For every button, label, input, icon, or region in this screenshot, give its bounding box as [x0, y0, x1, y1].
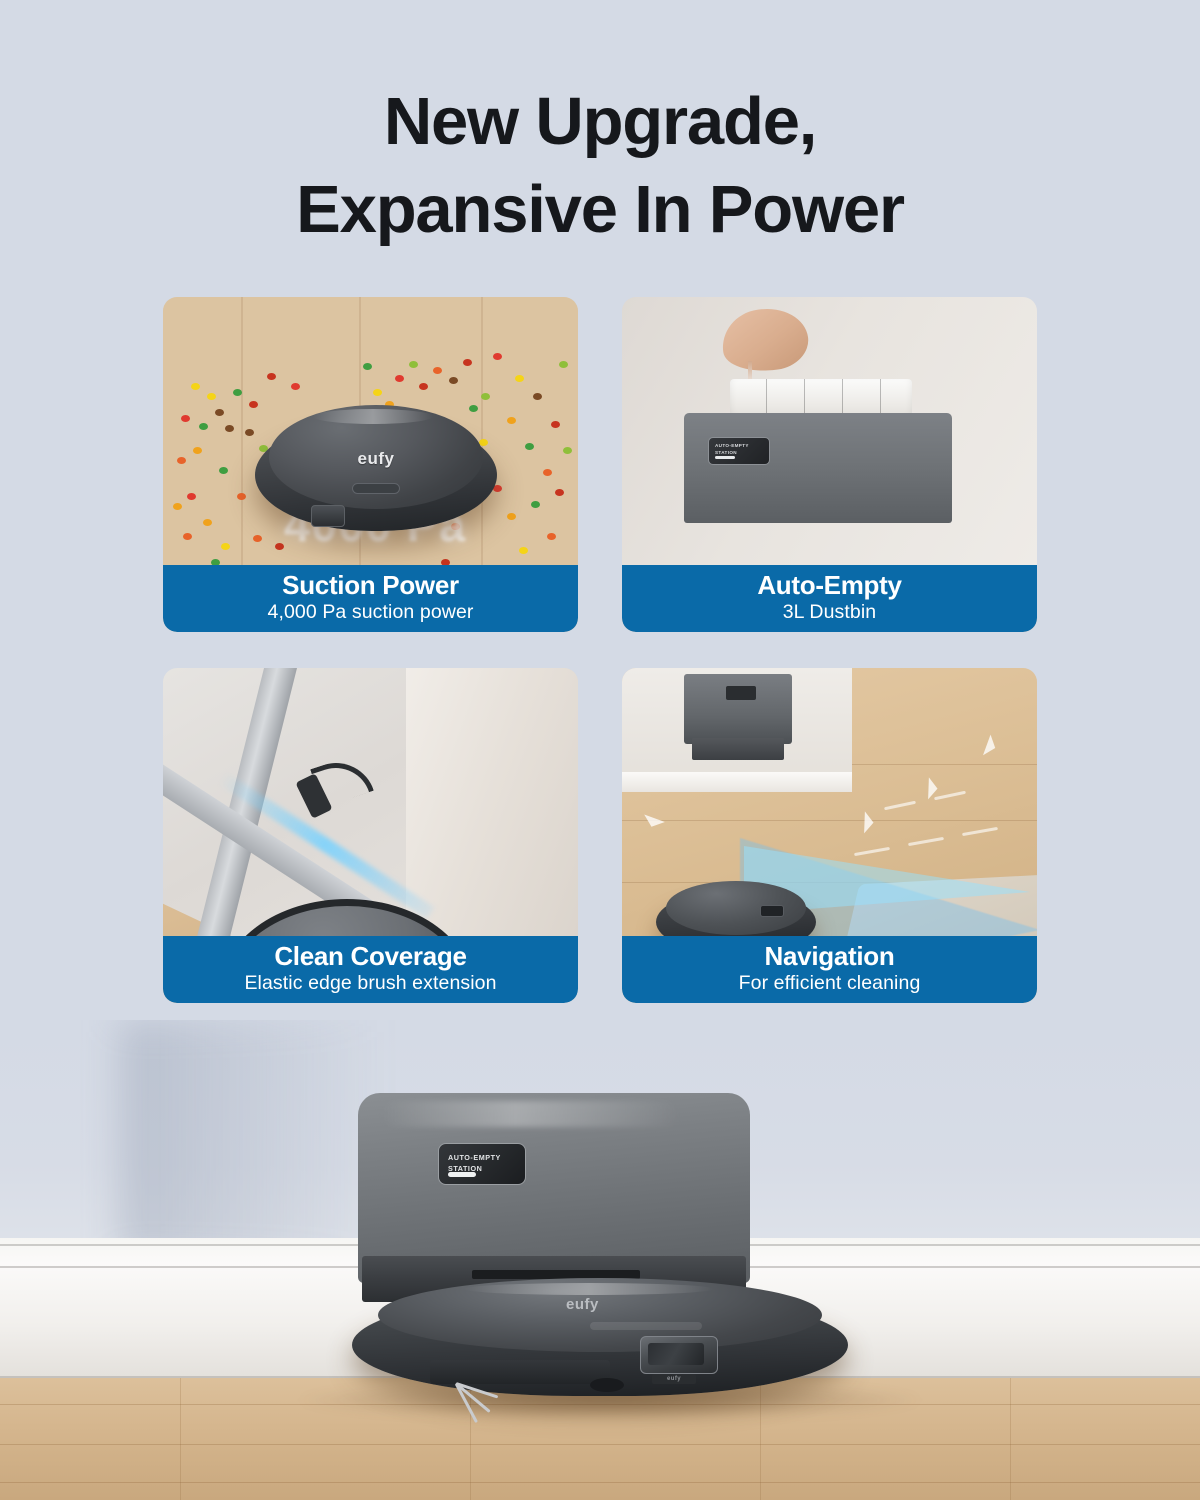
- candy-piece: [291, 383, 300, 390]
- floor-seam: [622, 820, 1037, 821]
- headline-line-2: Expansive In Power: [0, 166, 1200, 254]
- robot-highlight: [313, 409, 433, 424]
- candy-piece: [519, 547, 528, 554]
- candy-piece: [183, 533, 192, 540]
- caption-subtitle: 4,000 Pa suction power: [163, 600, 578, 626]
- candy-piece: [215, 409, 224, 416]
- station-label-line-1: AUTO-EMPTY: [715, 443, 749, 448]
- auto-empty-station: [684, 674, 792, 744]
- caption-title: Auto-Empty: [622, 571, 1037, 600]
- station-dock-ramp: [692, 738, 784, 760]
- feature-card-clean-coverage[interactable]: Clean Coverage Elastic edge brush extens…: [163, 668, 578, 1003]
- candy-piece: [199, 423, 208, 430]
- station-label-line-1: AUTO-EMPTY: [448, 1153, 501, 1162]
- caption-title: Suction Power: [163, 571, 578, 600]
- candy-piece: [225, 425, 234, 432]
- candy-piece: [193, 447, 202, 454]
- station-label-text: AUTO-EMPTY STATION: [448, 1152, 501, 1174]
- card-caption: Navigation For efficient cleaning: [622, 936, 1037, 1003]
- caption-title: Navigation: [622, 942, 1037, 971]
- robot-sensor: [640, 1336, 718, 1374]
- candy-piece: [547, 533, 556, 540]
- candy-piece: [409, 361, 418, 368]
- feature-card-suction-power[interactable]: 4000 Pa eufy Suction Power 4,000 Pa suct…: [163, 297, 578, 632]
- page-title: New Upgrade, Expansive In Power: [0, 78, 1200, 255]
- candy-piece: [219, 467, 228, 474]
- candy-piece: [559, 361, 568, 368]
- headline-line-1: New Upgrade,: [384, 84, 816, 159]
- candy-piece: [515, 375, 524, 382]
- caption-title: Clean Coverage: [163, 942, 578, 971]
- robot-wheel: [590, 1378, 624, 1392]
- feature-row-2: Clean Coverage Elastic edge brush extens…: [163, 668, 1037, 1003]
- robot-vacuum: eufy eufy: [352, 1278, 848, 1400]
- candy-piece: [395, 375, 404, 382]
- feature-grid: 4000 Pa eufy Suction Power 4,000 Pa suct…: [163, 297, 1037, 1003]
- candy-piece: [555, 489, 564, 496]
- station-label-panel: AUTO-EMPTY STATION: [438, 1143, 526, 1185]
- direction-arrow-icon: [864, 811, 874, 833]
- station-label-panel: AUTO-EMPTY STATION: [708, 437, 770, 465]
- sensor-lens: [648, 1343, 704, 1365]
- candy-piece: [267, 373, 276, 380]
- candy-piece: [449, 377, 458, 384]
- candy-piece: [563, 447, 572, 454]
- card-caption: Clean Coverage Elastic edge brush extens…: [163, 936, 578, 1003]
- side-brush: [456, 1382, 508, 1404]
- candy-piece: [373, 389, 382, 396]
- robot-vacuum: eufy: [255, 405, 497, 537]
- status-led: [715, 456, 735, 459]
- caption-subtitle: 3L Dustbin: [622, 600, 1037, 626]
- candy-piece: [493, 353, 502, 360]
- status-led: [448, 1172, 476, 1177]
- station-highlight: [380, 1101, 680, 1127]
- feature-card-navigation[interactable]: Navigation For efficient cleaning: [622, 668, 1037, 1003]
- auto-empty-station: AUTO-EMPTY STATION: [684, 413, 952, 523]
- robot-sensor: [760, 905, 784, 917]
- station-panel: [726, 686, 756, 700]
- candy-piece: [191, 383, 200, 390]
- candy-piece: [187, 493, 196, 500]
- candy-piece: [481, 393, 490, 400]
- candy-piece: [543, 469, 552, 476]
- auto-empty-station: AUTO-EMPTY STATION: [358, 1093, 750, 1283]
- candy-piece: [531, 501, 540, 508]
- candy-piece: [463, 359, 472, 366]
- station-label-line-2: STATION: [715, 450, 737, 455]
- candy-piece: [507, 417, 516, 424]
- candy-piece: [433, 367, 442, 374]
- feature-card-auto-empty[interactable]: AUTO-EMPTY STATION Auto-Empty 3L Dustbin: [622, 297, 1037, 632]
- caption-subtitle: For efficient cleaning: [622, 971, 1037, 997]
- candy-piece: [207, 393, 216, 400]
- robot-button-row: [590, 1322, 702, 1330]
- robot-sensor: [311, 505, 345, 527]
- robot-badge: eufy: [652, 1374, 696, 1384]
- candy-piece: [181, 415, 190, 422]
- hero-wall-shadow: [120, 1020, 380, 1260]
- robot-brush-housing: [430, 1360, 610, 1384]
- hero-product-image: AUTO-EMPTY STATION eufy eufy: [0, 1020, 1200, 1500]
- card-caption: Auto-Empty 3L Dustbin: [622, 565, 1037, 632]
- candy-piece: [233, 389, 242, 396]
- candy-piece: [177, 457, 186, 464]
- candy-piece: [551, 421, 560, 428]
- brand-logo: eufy: [566, 1296, 599, 1313]
- candy-piece: [173, 503, 182, 510]
- candy-piece: [221, 543, 230, 550]
- candy-piece: [533, 393, 542, 400]
- robot-highlight: [464, 1283, 714, 1295]
- feature-row-1: 4000 Pa eufy Suction Power 4,000 Pa suct…: [163, 297, 1037, 632]
- candy-piece: [245, 429, 254, 436]
- robot-top-cover: [666, 881, 806, 935]
- brand-logo: eufy: [358, 449, 395, 469]
- candy-piece: [203, 519, 212, 526]
- card-caption: Suction Power 4,000 Pa suction power: [163, 565, 578, 632]
- candy-piece: [419, 383, 428, 390]
- candy-piece: [525, 443, 534, 450]
- candy-piece: [363, 363, 372, 370]
- caption-subtitle: Elastic edge brush extension: [163, 971, 578, 997]
- baseboard: [622, 772, 852, 792]
- robot-button: [352, 483, 400, 494]
